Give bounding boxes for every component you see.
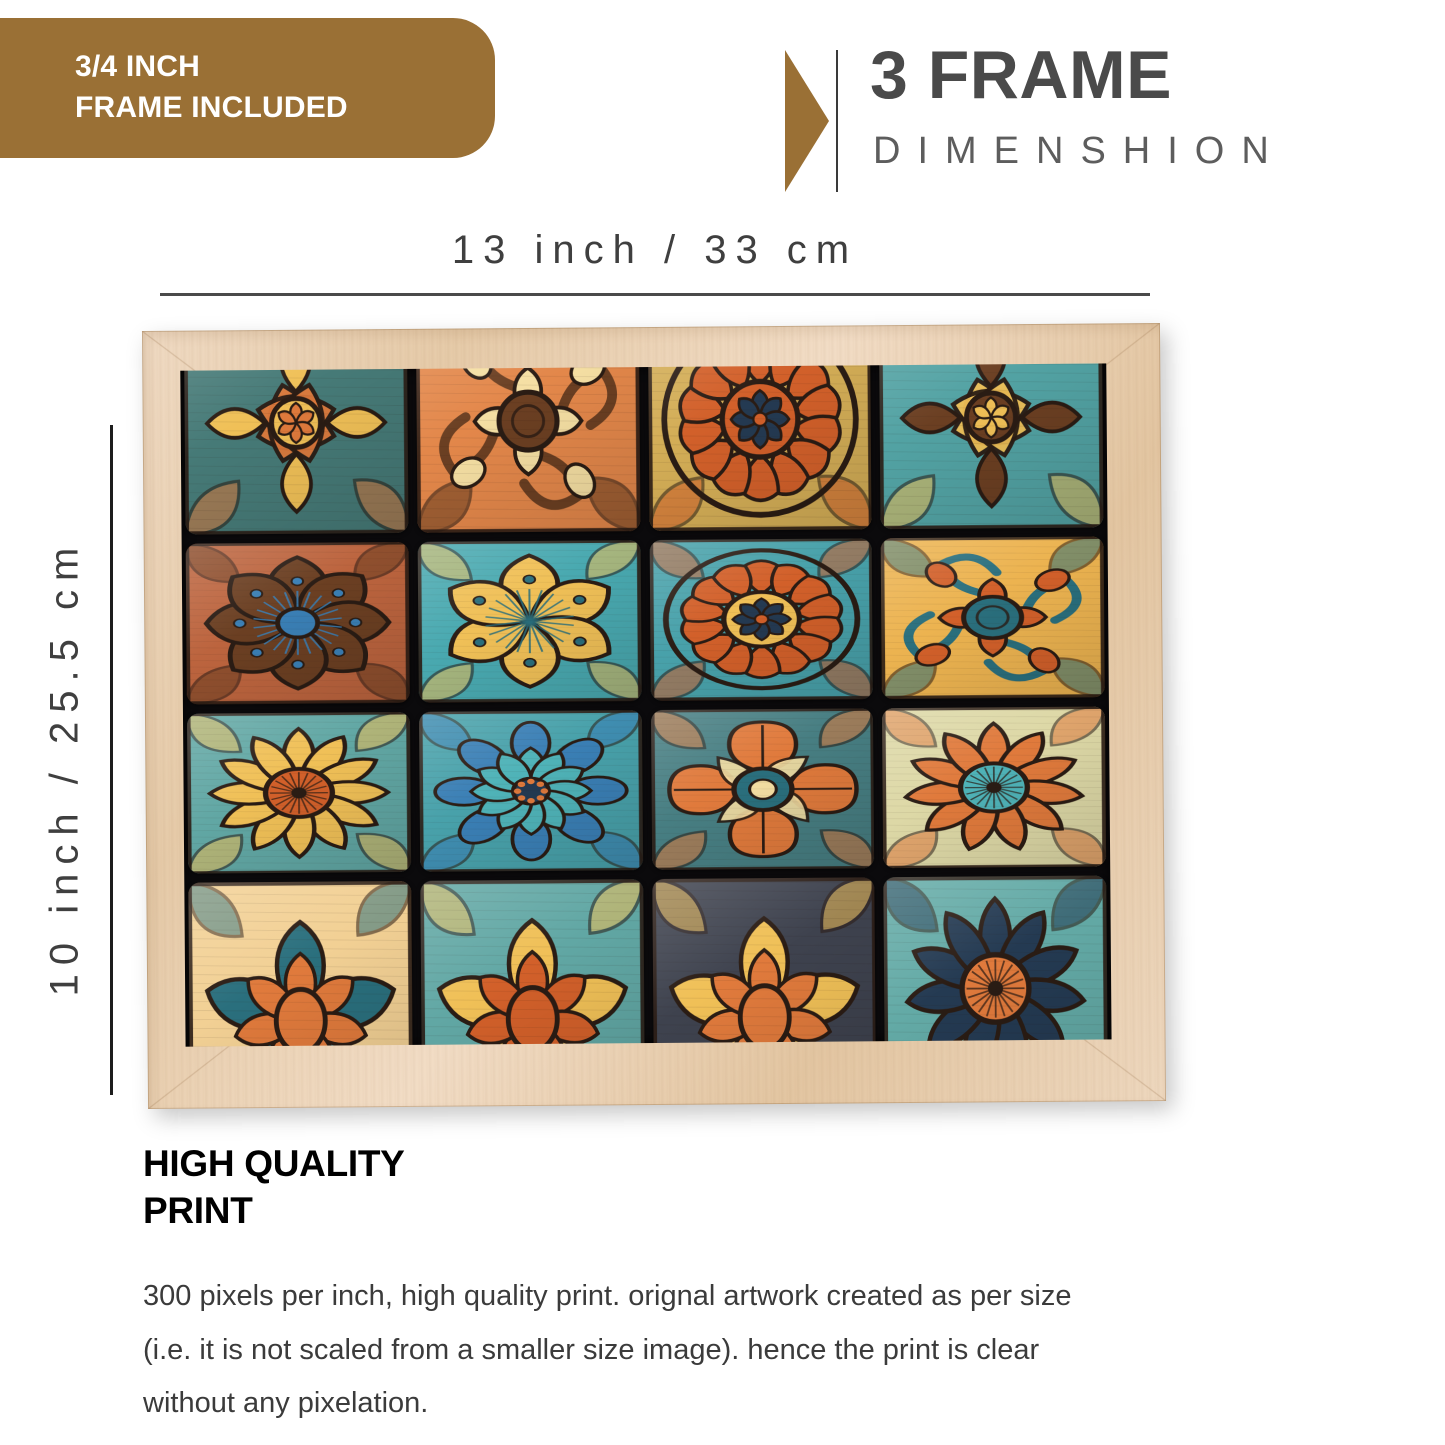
mandala-tile-r4-c1 [188,881,413,1047]
mandala-tile-r3-c4 [882,706,1106,868]
mandala-tile-r2-c1 [186,542,410,704]
mandala-tile-r2-c4 [881,537,1105,699]
mandala-tile-r1-c4 [879,363,1103,529]
triangle-right-shape [785,50,829,192]
height-dimension-label: 10 inch / 25.5 cm [43,433,88,1103]
mandala-tile-r1-c3 [647,363,871,531]
artwork-window [180,363,1111,1046]
badge-line-1: 3/4 INCH [75,47,495,88]
mandala-tile-r4-c4 [884,875,1109,1046]
quality-heading: HIGH QUALITY PRINT [143,1140,703,1235]
mandala-tile-r3-c2 [419,710,643,872]
quality-description: 300 pixels per inch, high quality print.… [143,1270,1103,1431]
mandala-tile-r3-c1 [187,711,411,873]
mandala-tile-r2-c2 [417,540,641,702]
mandala-tile-r1-c2 [416,363,640,533]
mandala-tile-r1-c1 [184,363,408,534]
mandala-tile-r4-c3 [652,877,877,1047]
width-dimension-line [160,293,1150,296]
mandala-tile-r2-c3 [649,539,873,701]
quality-heading-line-2: PRINT [143,1187,703,1234]
height-dimension-line [110,425,113,1095]
mandala-tile-r3-c3 [650,708,874,870]
page-subtitle: DIMENSHION [873,130,1286,173]
mandala-tile-r4-c2 [420,879,645,1047]
mandala-tile-grid [180,363,1111,1046]
width-dimension-label: 13 inch / 33 cm [160,228,1150,273]
triangle-right-icon [785,50,845,192]
frame-included-badge: 3/4 INCH FRAME INCLUDED [0,18,495,158]
badge-line-2: FRAME INCLUDED [75,88,495,129]
page-title: 3 FRAME [870,36,1172,114]
framed-artwork-mockup [142,323,1166,1109]
frame-dimension-header: 3 FRAME DIMENSHION [785,42,1405,192]
quality-heading-line-1: HIGH QUALITY [143,1140,703,1187]
header-divider-line [836,50,838,192]
